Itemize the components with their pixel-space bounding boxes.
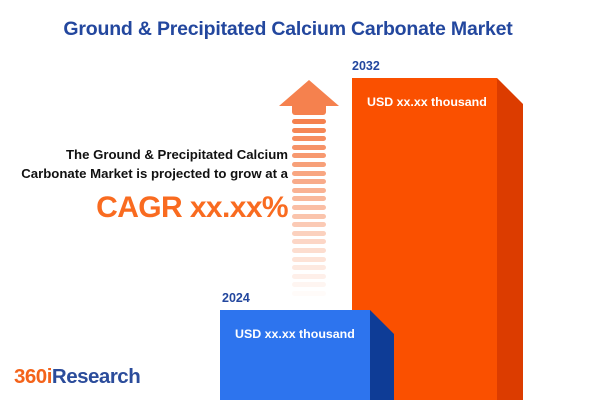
- up-arrow-stripe: [292, 248, 326, 253]
- up-arrow-stripe: [292, 179, 326, 184]
- up-arrow-stripe: [292, 188, 326, 193]
- bar-2024-year-label: 2024: [222, 291, 250, 305]
- bar-2032-side-face: [497, 78, 523, 400]
- up-arrow-stripe: [292, 153, 326, 158]
- page-title: Ground & Precipitated Calcium Carbonate …: [0, 18, 576, 41]
- up-arrow-stripe: [292, 231, 326, 236]
- bar-2032-year-label: 2032: [352, 59, 380, 73]
- up-arrow-stripe: [292, 222, 326, 227]
- up-arrow-stripe: [292, 171, 326, 176]
- cagr-statement: The Ground & Precipitated Calcium Carbon…: [18, 146, 288, 183]
- infographic-canvas: Ground & Precipitated Calcium Carbonate …: [0, 0, 600, 400]
- up-arrow-icon: [279, 80, 339, 296]
- bar-2024-front-face: [220, 310, 370, 400]
- up-arrow-stripe: [292, 119, 326, 124]
- up-arrow-stripe: [292, 257, 326, 262]
- up-arrow-stripe: [292, 196, 326, 201]
- up-arrow-stripe: [292, 128, 326, 133]
- bar-2032-value-label: USD xx.xx thousand: [367, 95, 487, 109]
- brand-logo: 360iResearch: [14, 365, 140, 389]
- cagr-value: CAGR xx.xx%: [18, 192, 288, 224]
- up-arrow-stripe: [292, 214, 326, 219]
- up-arrow-stripe: [292, 282, 326, 287]
- up-arrow-stripe: [292, 274, 326, 279]
- up-arrow-stripe: [292, 145, 326, 150]
- up-arrow-stripe: [292, 239, 326, 244]
- up-arrow-stripe: [292, 162, 326, 167]
- brand-logo-secondary: Research: [52, 365, 140, 388]
- up-arrow-head: [279, 80, 339, 106]
- up-arrow-stripes: [292, 119, 326, 299]
- up-arrow-stripe: [292, 205, 326, 210]
- brand-logo-primary: 360i: [14, 365, 52, 388]
- up-arrow-stripe: [292, 265, 326, 270]
- up-arrow-neck: [292, 106, 326, 115]
- up-arrow-stripe: [292, 291, 326, 296]
- cagr-block: The Ground & Precipitated Calcium Carbon…: [18, 146, 288, 224]
- bar-2024-value-label: USD xx.xx thousand: [235, 327, 355, 341]
- up-arrow-stripe: [292, 136, 326, 141]
